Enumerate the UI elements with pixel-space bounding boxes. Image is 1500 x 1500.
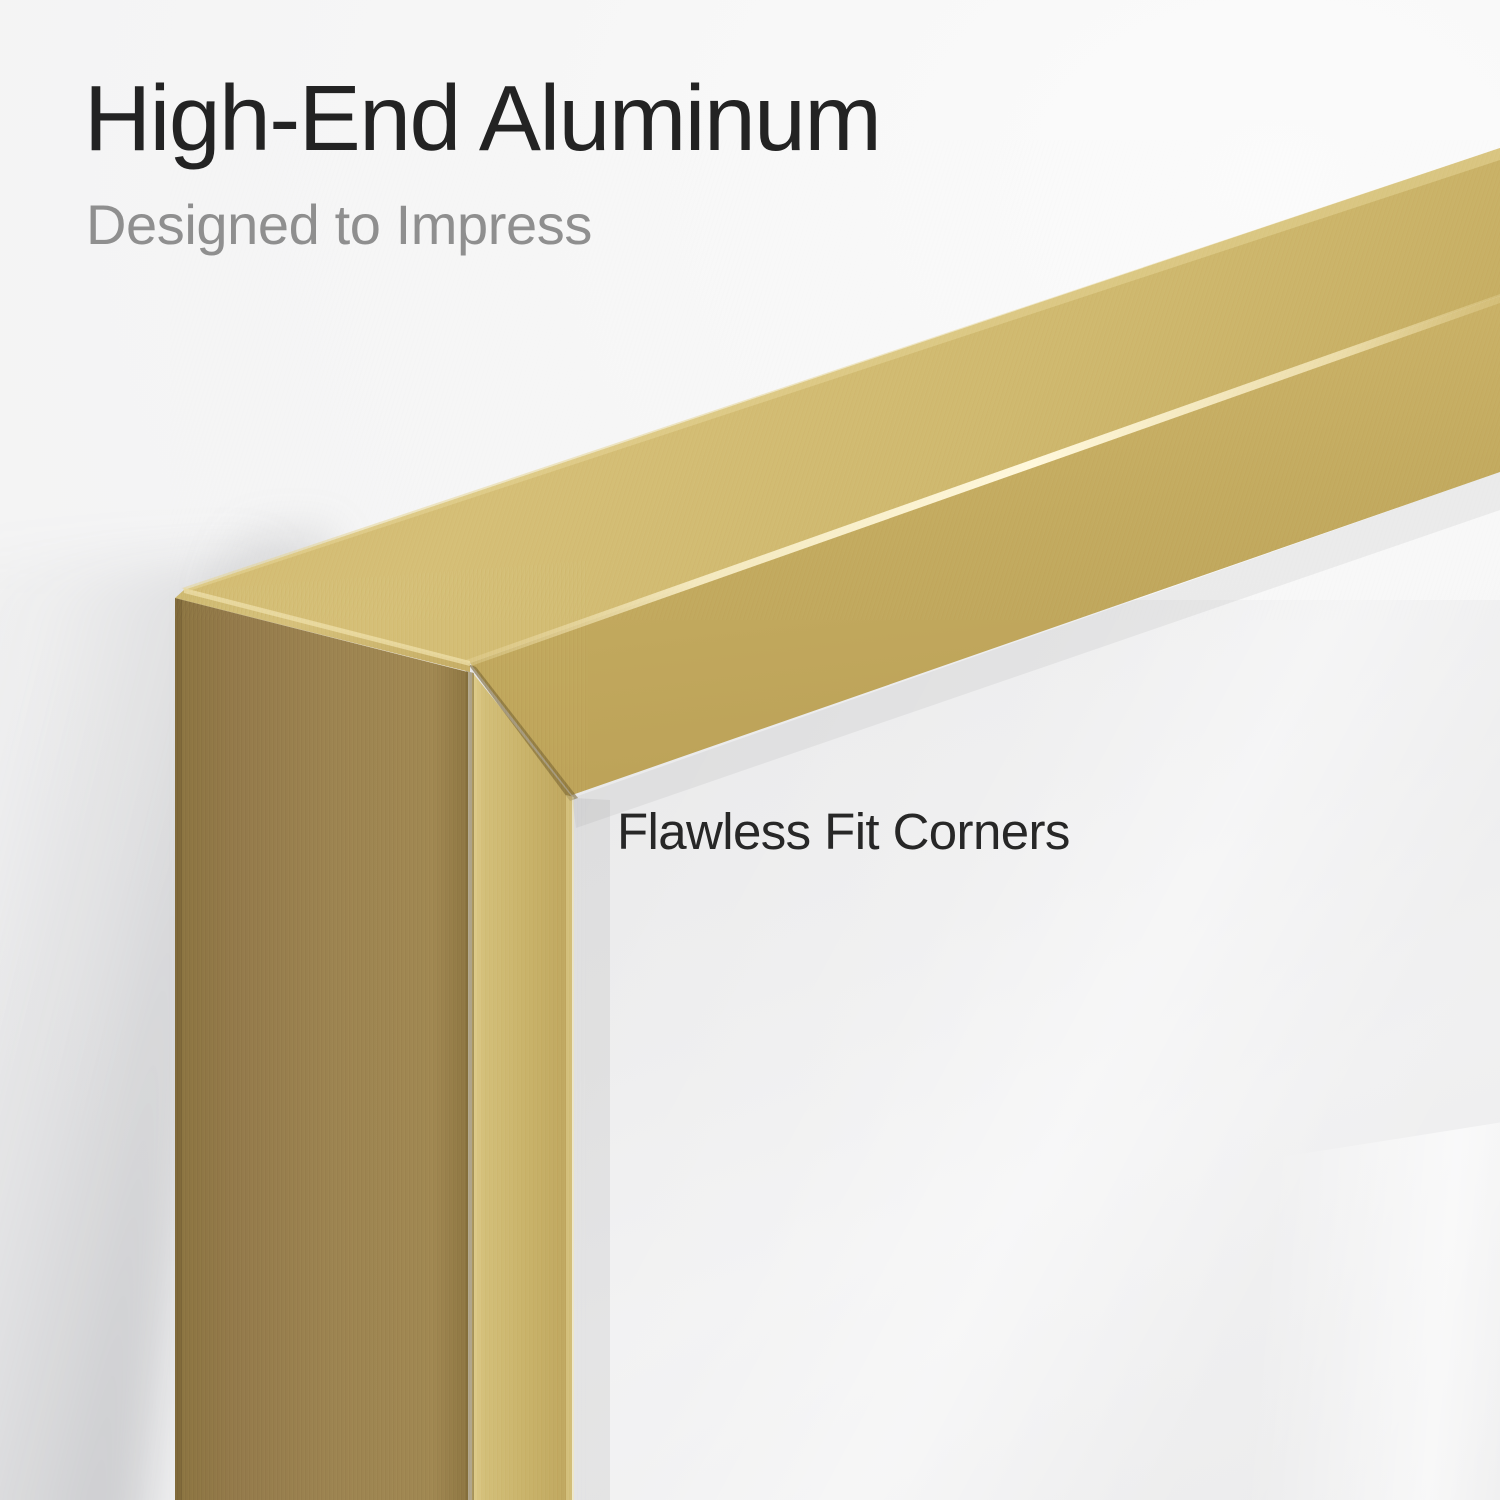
frame-inner-shadow-on-glass <box>574 798 610 1500</box>
callout-flawless-fit-corners: Flawless Fit Corners <box>617 805 1070 859</box>
page-title: High-End Aluminum <box>84 70 880 168</box>
frame-left-rail-outer-face <box>175 598 468 1500</box>
frame-left-rail-inner-face <box>472 672 572 1500</box>
frame-left-silhouette-edge <box>175 598 182 1500</box>
product-feature-image: High-End Aluminum Designed to Impress Fl… <box>0 0 1500 1500</box>
frame-inner-lip-highlight <box>566 795 574 1500</box>
frame-left-rail-seam <box>466 671 474 1500</box>
page-subtitle: Designed to Impress <box>86 196 592 255</box>
